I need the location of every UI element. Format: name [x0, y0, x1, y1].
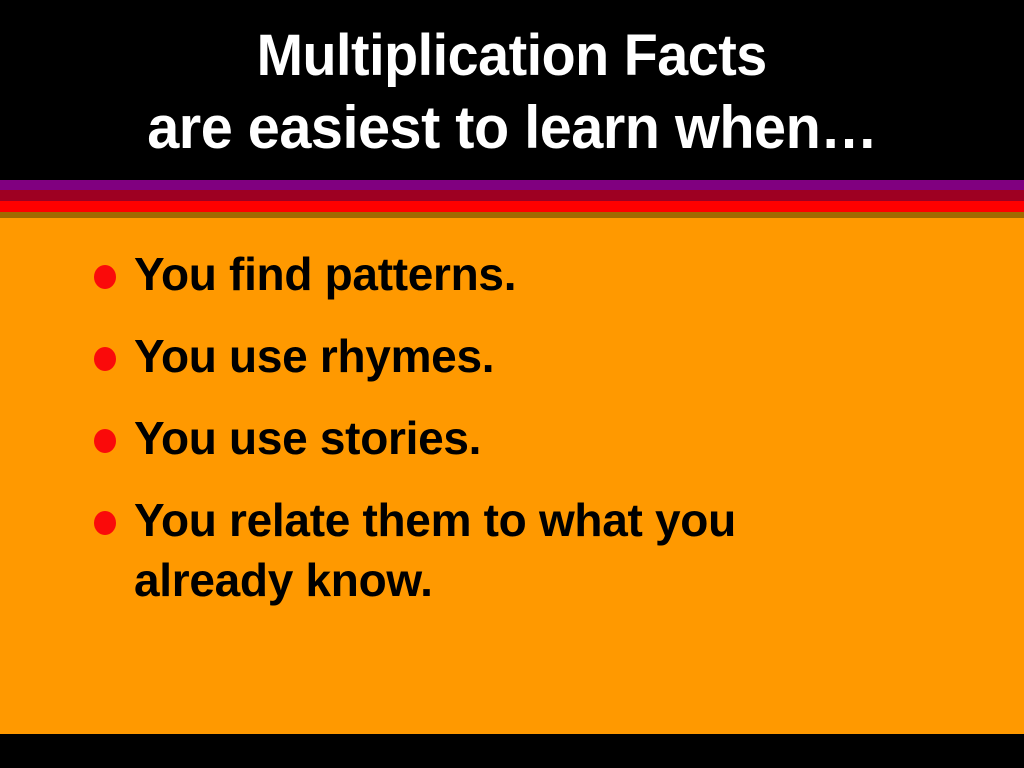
list-item: You use stories. — [84, 408, 984, 468]
stripe-purple — [0, 180, 1024, 190]
bullet-dot-icon — [94, 347, 116, 371]
decorative-stripe-divider — [0, 180, 1024, 218]
slide-body: You find patterns. You use rhymes. You u… — [0, 218, 1024, 734]
stripe-red — [0, 201, 1024, 212]
bullet-list: You find patterns. You use rhymes. You u… — [84, 244, 984, 610]
bullet-item-label: You find patterns. — [134, 244, 894, 304]
slide-footer-band — [0, 734, 1024, 768]
slide-title-line-2: are easiest to learn when… — [147, 92, 877, 164]
slide-title-line-1: Multiplication Facts — [257, 20, 767, 92]
bullet-item-label: You use rhymes. — [134, 326, 894, 386]
bullet-dot-icon — [94, 511, 116, 535]
bullet-dot-icon — [94, 265, 116, 289]
bullet-item-label: You relate them to what you already know… — [134, 490, 894, 610]
list-item: You find patterns. — [84, 244, 984, 304]
list-item: You use rhymes. — [84, 326, 984, 386]
stripe-crimson — [0, 190, 1024, 201]
list-item: You relate them to what you already know… — [84, 490, 984, 610]
bullet-item-label: You use stories. — [134, 408, 894, 468]
presentation-slide: Multiplication Facts are easiest to lear… — [0, 0, 1024, 768]
bullet-dot-icon — [94, 429, 116, 453]
slide-title-band: Multiplication Facts are easiest to lear… — [0, 0, 1024, 180]
